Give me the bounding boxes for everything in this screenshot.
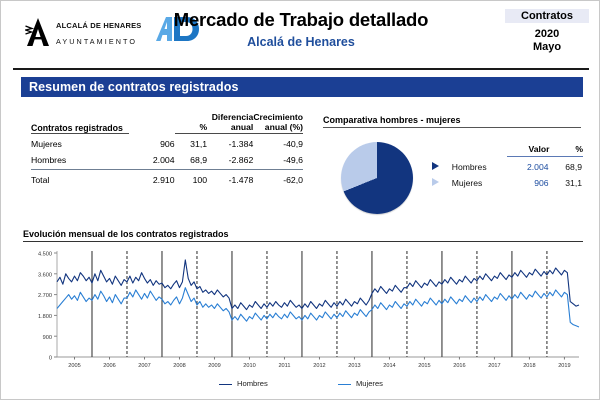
legend-value-mujeres: 906 [507, 173, 550, 189]
legend-line-mujeres-icon [338, 384, 351, 385]
legend-name-hombres: Hombres [451, 157, 507, 174]
pie-panel-title: Comparativa hombres - mujeres [323, 115, 581, 128]
table-row: Hombres 2.004 68,9 -2.862 -49,6 [31, 149, 303, 169]
chart-legend-item-mujeres: Mujeres [338, 379, 383, 388]
chart-legend-item-hombres: Hombres [219, 379, 268, 388]
pie-legend-row-mujeres: Mujeres 906 31,1 [431, 173, 583, 189]
chart-legend-label-mujeres: Mujeres [356, 379, 383, 388]
svg-text:2017: 2017 [488, 363, 500, 369]
legend-marker-hombres-icon [431, 157, 451, 174]
row-dif-total: -1.478 [207, 169, 253, 185]
pie-legend-row-hombres: Hombres 2.004 68,9 [431, 157, 583, 174]
th-cre-line1: Crecimiento [253, 112, 303, 122]
line-chart-svg: 09001.8002.7003.6004.5002005200620072008… [23, 247, 585, 375]
row-value-mujeres: 906 [129, 133, 175, 149]
section-banner-resumen: Resumen de contratos registrados [21, 77, 583, 97]
section-banner-label: Resumen de contratos registrados [21, 80, 239, 94]
row-pct-total: 100 [175, 169, 208, 185]
svg-text:4.500: 4.500 [38, 252, 52, 258]
svg-text:2014: 2014 [383, 363, 395, 369]
legend-pct-hombres: 68,9 [550, 157, 583, 174]
legend-marker-mujeres-icon [431, 173, 451, 189]
table-header-pct: % [175, 113, 208, 133]
corner-tag-contratos: Contratos [505, 9, 589, 23]
row-dif-mujeres: -1.384 [207, 133, 253, 149]
svg-text:1.800: 1.800 [38, 314, 52, 320]
row-growth-hombres: -49,6 [253, 149, 303, 169]
header-divider [13, 68, 589, 70]
svg-text:2008: 2008 [173, 363, 185, 369]
row-pct-mujeres: 31,1 [175, 133, 208, 149]
row-label-hombres: Hombres [31, 149, 129, 169]
th-cre-line2: anual (%) [265, 122, 303, 132]
svg-text:2018: 2018 [523, 363, 535, 369]
pie-legend-header-valor: Valor [507, 144, 550, 157]
row-label-total: Total [31, 169, 129, 185]
corner-info: Contratos 2020 Mayo [505, 9, 589, 53]
svg-text:2007: 2007 [138, 363, 150, 369]
svg-text:2011: 2011 [278, 363, 290, 369]
table-header-diferencia: Diferencia anual [207, 113, 253, 133]
svg-text:2.700: 2.700 [38, 293, 52, 299]
svg-text:2009: 2009 [208, 363, 220, 369]
pie-legend-header-blank2 [451, 144, 507, 157]
evolution-line-chart: 09001.8002.7003.6004.5002005200620072008… [23, 247, 585, 375]
svg-text:2013: 2013 [348, 363, 360, 369]
svg-text:900: 900 [43, 335, 52, 341]
th-dif-line1: Diferencia [212, 112, 254, 122]
legend-line-hombres-icon [219, 384, 232, 385]
svg-text:2010: 2010 [243, 363, 255, 369]
chart-legend-label-hombres: Hombres [237, 379, 268, 388]
svg-text:2005: 2005 [68, 363, 80, 369]
table-header-value [129, 113, 175, 133]
slide-page: ALCALÁ DE HENARES AYUNTAMIENTO Mercado d… [0, 0, 600, 400]
th-dif-line2: anual [231, 122, 253, 132]
corner-month: Mayo [505, 41, 589, 53]
table-title: Contratos registrados [31, 113, 129, 133]
table-header-row: Contratos registrados % Diferencia anual… [31, 113, 303, 133]
row-value-total: 2.910 [129, 169, 175, 185]
corner-year: 2020 [505, 28, 589, 40]
pie-panel-body: Valor % Hombres 2.004 68,9 Mujeres 906 3… [323, 128, 585, 216]
summary-table: Contratos registrados % Diferencia anual… [31, 113, 303, 185]
table-row-total: Total 2.910 100 -1.478 -62,0 [31, 169, 303, 185]
row-dif-hombres: -2.862 [207, 149, 253, 169]
legend-value-hombres: 2.004 [507, 157, 550, 174]
pie-legend-header-blank1 [431, 144, 451, 157]
chart-legend: Hombres Mujeres [1, 379, 600, 388]
svg-text:2012: 2012 [313, 363, 325, 369]
pie-legend-header-pct: % [550, 144, 583, 157]
table-header-crecimiento: Crecimiento anual (%) [253, 113, 303, 133]
table-row: Mujeres 906 31,1 -1.384 -40,9 [31, 133, 303, 149]
legend-pct-mujeres: 31,1 [550, 173, 583, 189]
gender-pie-chart [341, 142, 413, 214]
svg-text:2015: 2015 [418, 363, 430, 369]
legend-name-mujeres: Mujeres [451, 173, 507, 189]
pie-legend-table: Valor % Hombres 2.004 68,9 Mujeres 906 3… [431, 144, 583, 189]
row-growth-mujeres: -40,9 [253, 133, 303, 149]
svg-text:3.600: 3.600 [38, 272, 52, 278]
svg-text:2006: 2006 [103, 363, 115, 369]
row-label-mujeres: Mujeres [31, 133, 129, 149]
svg-text:2016: 2016 [453, 363, 465, 369]
row-pct-hombres: 68,9 [175, 149, 208, 169]
svg-text:2019: 2019 [558, 363, 570, 369]
pie-panel: Comparativa hombres - mujeres Valor % Ho… [323, 115, 585, 216]
page-header: ALCALÁ DE HENARES AYUNTAMIENTO Mercado d… [1, 1, 600, 69]
evolution-title: Evolución mensual de los contratos regis… [23, 229, 583, 242]
pie-legend-header-row: Valor % [431, 144, 583, 157]
svg-text:0: 0 [49, 356, 52, 362]
row-value-hombres: 2.004 [129, 149, 175, 169]
row-growth-total: -62,0 [253, 169, 303, 185]
